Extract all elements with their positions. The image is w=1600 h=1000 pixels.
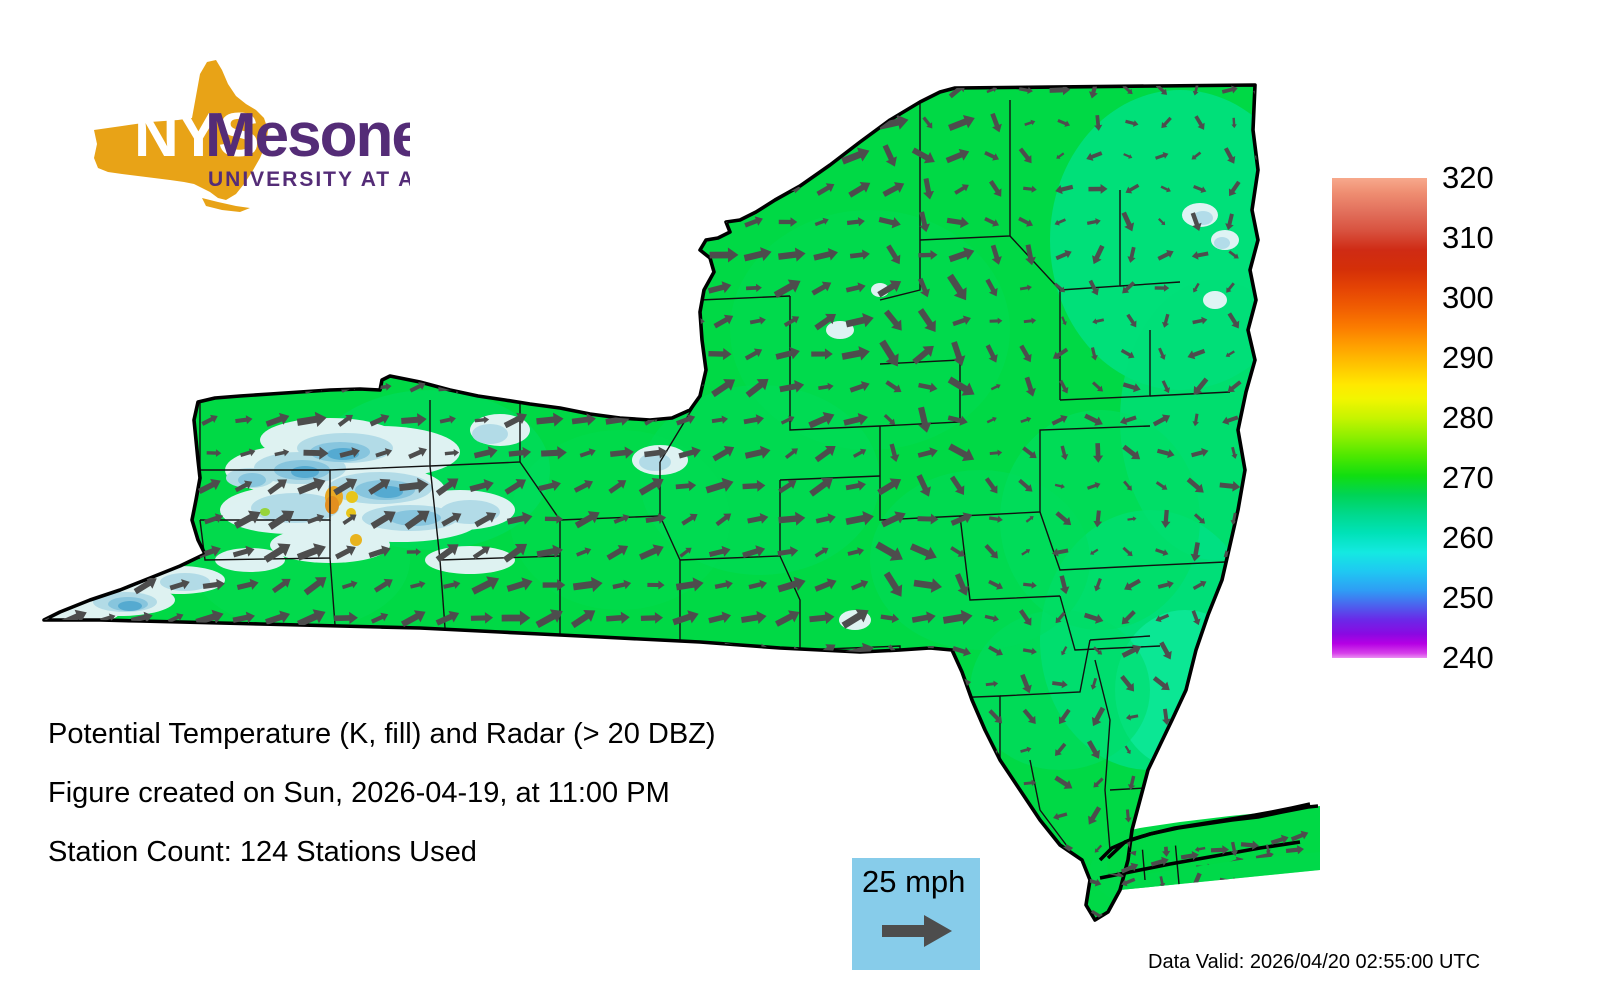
wind-arrow	[65, 545, 84, 559]
wind-arrow	[1054, 876, 1065, 888]
wind-arrow	[912, 806, 936, 825]
wind-arrow	[1189, 745, 1203, 756]
wind-arrow	[127, 275, 156, 302]
wind-arrow	[544, 181, 564, 197]
wind-arrow	[1228, 712, 1239, 722]
wind-arrow	[28, 241, 59, 269]
wind-arrow	[63, 282, 84, 294]
wind-arrow	[572, 244, 604, 267]
wind-arrow	[987, 841, 1005, 856]
wind-arrow	[231, 345, 257, 363]
wind-arrow	[538, 110, 571, 136]
wind-arrow	[669, 77, 703, 104]
wind-arrow	[339, 249, 361, 261]
wind-arrow	[370, 309, 399, 334]
weather-map-figure: NYS Mesonet UNIVERSITY AT ALBANY 320 310…	[0, 0, 1600, 1000]
wind-arrow	[1263, 378, 1274, 396]
wind-arrow	[97, 643, 126, 660]
wind-arrow	[94, 673, 123, 696]
wind-arrow	[742, 677, 766, 692]
wind-arrow	[332, 676, 360, 691]
wind-arrow	[35, 907, 54, 922]
wind-arrow	[33, 644, 55, 658]
wind-arrow	[605, 212, 632, 232]
wind-arrow	[439, 903, 466, 926]
wind-arrow	[780, 808, 797, 824]
colorbar-tick-310: 310	[1442, 222, 1494, 253]
wind-arrow	[98, 511, 127, 526]
wind-arrow	[574, 905, 602, 925]
wind-arrow	[739, 80, 769, 101]
wind-arrow	[509, 645, 531, 657]
wind-arrow	[1221, 675, 1239, 694]
wind-arrow	[1024, 910, 1035, 920]
wind-arrow	[131, 675, 153, 693]
wind-arrow	[712, 85, 728, 95]
wind-arrow	[1257, 181, 1279, 197]
wind-arrow	[638, 149, 665, 164]
wind-arrow	[1258, 246, 1278, 265]
wind-arrow	[575, 215, 592, 229]
wind-arrow	[676, 282, 697, 293]
wind-arrow	[608, 375, 636, 399]
wind-arrow	[879, 84, 901, 96]
wind-arrow	[1158, 907, 1173, 923]
wind-arrow	[781, 711, 802, 722]
wind-arrow	[610, 314, 635, 328]
wind-arrow	[1229, 648, 1240, 655]
wind-arrow	[32, 215, 49, 229]
wind-arrow	[675, 148, 696, 163]
wind-arrow	[502, 343, 529, 366]
wind-arrow	[504, 175, 536, 203]
wind-arrow	[1254, 216, 1273, 228]
wind-arrow	[643, 313, 670, 330]
wind-arrow	[816, 116, 835, 129]
wind-arrow	[206, 381, 222, 392]
wind-arrow	[164, 544, 188, 560]
wind-arrow	[471, 111, 501, 134]
wind-arrow	[919, 707, 936, 726]
wind-arrow	[1260, 447, 1276, 460]
wind-arrow	[335, 280, 357, 296]
wind-arrow	[438, 248, 466, 263]
wind-arrow	[644, 84, 661, 95]
wind-arrow	[674, 175, 706, 204]
wind-arrow	[543, 906, 566, 924]
wind-arrow	[636, 344, 667, 363]
wind-arrow	[913, 671, 935, 698]
wind-arrow	[783, 775, 801, 791]
wind-arrow	[469, 243, 502, 267]
wind-arrow	[273, 250, 291, 259]
wind-arrow	[25, 541, 55, 563]
wind-arrow	[303, 246, 329, 263]
wind-arrow	[1257, 906, 1279, 923]
wind-arrow	[746, 116, 770, 129]
wind-key-label: 25 mph	[862, 864, 965, 900]
caption-created: Figure created on Sun, 2026-04-19, at 11…	[48, 777, 716, 810]
wind-arrow	[1020, 877, 1032, 886]
wind-arrow	[738, 144, 770, 167]
wind-arrow	[1191, 705, 1209, 728]
wind-arrow	[233, 674, 256, 694]
wind-arrow	[137, 381, 155, 394]
wind-arrow	[576, 348, 592, 360]
wind-arrow	[880, 737, 899, 763]
wind-arrow	[815, 812, 829, 819]
wind-arrow	[948, 768, 976, 798]
wind-arrow	[32, 311, 56, 332]
wind-arrow	[610, 909, 633, 922]
wind-arrow	[264, 346, 292, 361]
wind-arrow	[809, 743, 836, 757]
wind-arrow	[31, 742, 50, 758]
wind-arrow	[544, 314, 565, 329]
wind-arrow	[341, 909, 360, 921]
colorbar-tick-290: 290	[1442, 342, 1494, 373]
wind-arrow	[202, 678, 219, 689]
wind-arrow	[474, 284, 490, 293]
wind-arrow	[1224, 909, 1245, 921]
wind-arrow	[1263, 646, 1274, 655]
wind-arrow	[508, 282, 524, 293]
wind-arrow	[471, 906, 502, 924]
wind-arrow	[474, 86, 490, 95]
wind-arrow	[850, 118, 871, 129]
wind-speed-key: 25 mph	[852, 858, 980, 970]
wind-arrow	[607, 282, 629, 294]
wind-arrow	[545, 380, 563, 394]
wind-arrow	[1222, 612, 1237, 623]
wind-arrow	[239, 249, 256, 260]
colorbar-tick-280: 280	[1442, 402, 1494, 433]
wind-arrow	[607, 111, 637, 136]
wind-arrow	[234, 312, 263, 330]
wind-arrow	[777, 907, 806, 923]
wind-arrow	[771, 141, 804, 171]
wind-arrow	[741, 741, 767, 760]
wind-arrow	[877, 806, 903, 826]
wind-arrow	[64, 308, 93, 333]
wind-arrow	[66, 378, 89, 397]
wind-arrow	[168, 413, 185, 427]
wind-arrow	[745, 840, 770, 857]
wind-arrow	[95, 343, 121, 365]
wind-arrow	[1253, 409, 1275, 431]
wind-arrow	[365, 344, 394, 364]
wind-arrow	[503, 83, 528, 98]
wind-arrow	[165, 444, 195, 461]
wind-arrow	[134, 905, 158, 925]
wind-arrow	[987, 776, 1005, 790]
wind-arrow	[815, 711, 837, 724]
wind-arrow	[195, 340, 225, 367]
wind-arrow	[1159, 774, 1173, 792]
wind-arrow	[273, 646, 291, 656]
wind-arrow	[130, 344, 155, 365]
wind-arrow	[647, 182, 664, 197]
wind-arrow	[1255, 613, 1273, 624]
wind-arrow	[809, 873, 836, 890]
wind-arrow	[337, 314, 363, 328]
wind-arrow	[409, 645, 426, 658]
wind-arrow	[643, 676, 661, 692]
wind-arrow	[709, 176, 739, 202]
wind-arrow	[370, 906, 397, 924]
wind-arrow	[844, 807, 868, 824]
wind-arrow	[507, 314, 532, 328]
wind-arrow	[301, 281, 323, 295]
wind-arrow	[807, 79, 836, 101]
wind-arrow	[848, 775, 872, 791]
wind-arrow	[100, 416, 116, 425]
wind-arrow	[170, 511, 190, 526]
wind-arrow	[844, 706, 876, 728]
wind-arrow	[1263, 779, 1274, 788]
wind-arrow	[536, 147, 565, 166]
wind-arrow	[102, 444, 123, 461]
wind-arrow	[745, 875, 763, 890]
wind-arrow	[580, 380, 596, 393]
wind-arrow	[951, 708, 972, 725]
wind-arrow	[302, 639, 329, 662]
wind-arrow	[302, 904, 329, 926]
wind-arrow	[1258, 746, 1270, 753]
wind-arrow	[609, 83, 628, 97]
wind-arrow	[434, 279, 462, 297]
wind-arrow	[572, 150, 596, 163]
wind-arrow	[645, 907, 666, 924]
wind-arrow	[743, 808, 764, 823]
colorbar-tick-270: 270	[1442, 462, 1494, 493]
colorbar-tick-240: 240	[1442, 642, 1494, 673]
wind-arrow	[201, 644, 226, 658]
wind-arrow	[135, 511, 157, 527]
wind-arrow	[882, 774, 906, 792]
wind-arrow	[433, 673, 462, 694]
wind-arrow	[502, 211, 530, 232]
wind-arrow	[261, 273, 294, 302]
wind-arrow	[68, 908, 89, 922]
wind-arrow	[815, 841, 836, 857]
wind-arrow	[808, 676, 837, 691]
logo-subtitle-text: UNIVERSITY AT ALBANY	[208, 168, 410, 191]
wind-arrow	[366, 675, 394, 693]
wind-arrow	[645, 117, 666, 129]
wind-arrow	[272, 312, 292, 330]
wind-arrow	[574, 675, 595, 693]
wind-arrow	[577, 314, 598, 328]
wind-arrow	[777, 83, 799, 97]
wind-arrow	[200, 310, 227, 331]
wind-arrow	[747, 906, 770, 925]
wind-arrow	[433, 147, 463, 164]
wind-arrow	[202, 245, 227, 266]
wind-arrow	[674, 113, 706, 133]
wind-arrow	[474, 380, 497, 393]
wind-arrow	[404, 245, 433, 265]
wind-arrow	[1263, 514, 1272, 524]
wind-arrow	[1261, 316, 1275, 326]
wind-arrow	[575, 85, 592, 94]
wind-arrow	[1191, 909, 1209, 921]
wind-arrow	[509, 117, 531, 129]
wind-arrow	[134, 248, 159, 263]
wind-arrow	[683, 251, 697, 259]
wind-arrow	[545, 646, 563, 656]
wind-arrow	[340, 644, 360, 658]
wind-arrow	[1259, 115, 1278, 131]
colorbar-tick-260: 260	[1442, 522, 1494, 553]
wind-arrow	[466, 142, 499, 170]
wind-arrow	[541, 215, 560, 230]
wind-arrow	[678, 644, 701, 658]
wind-arrow	[472, 213, 491, 231]
caption-block: Potential Temperature (K, fill) and Rada…	[48, 718, 716, 895]
wind-arrow	[604, 673, 632, 694]
wind-arrow	[989, 912, 1002, 919]
wind-arrow	[955, 845, 970, 853]
wind-arrow	[32, 509, 56, 529]
wind-arrow	[918, 774, 937, 792]
wind-arrow	[817, 775, 836, 790]
wind-arrow	[1156, 810, 1168, 823]
wind-arrow	[407, 116, 428, 131]
wind-arrow	[672, 672, 699, 695]
colorbar-legend: 320 310 300 290 280 270 260 250 240	[1332, 178, 1582, 660]
wind-arrow	[745, 710, 771, 724]
wind-arrow	[609, 642, 636, 661]
wind-arrow	[29, 282, 52, 294]
wind-arrow	[947, 803, 970, 830]
wind-arrow	[229, 275, 260, 300]
wind-arrow	[404, 677, 423, 692]
wind-arrow	[541, 678, 559, 689]
wind-arrow	[773, 873, 804, 891]
wind-arrow	[711, 149, 730, 162]
wind-arrow	[542, 349, 557, 359]
wind-arrow	[510, 247, 530, 263]
colorbar-tick-300: 300	[1442, 282, 1494, 313]
wind-arrow	[1256, 678, 1271, 691]
wind-arrow	[127, 542, 158, 561]
wind-arrow	[195, 274, 225, 301]
wind-arrow	[707, 677, 733, 690]
wind-arrow	[473, 642, 499, 661]
wind-arrow	[96, 477, 121, 495]
wind-arrow	[61, 674, 87, 693]
wind-arrow	[915, 83, 933, 97]
wind-arrow	[535, 79, 565, 101]
wind-arrow	[68, 644, 88, 657]
wind-arrow	[637, 210, 666, 233]
wind-arrow	[1254, 276, 1273, 299]
wind-arrow	[883, 709, 905, 726]
wind-arrow	[1253, 542, 1275, 562]
wind-arrow	[409, 316, 426, 325]
wind-arrow	[399, 342, 429, 367]
wind-arrow	[403, 902, 433, 927]
wind-arrow	[878, 676, 901, 692]
wind-arrow	[266, 902, 298, 928]
wind-arrow	[29, 677, 51, 690]
wind-arrow	[239, 646, 257, 657]
wind-arrow	[1221, 741, 1238, 759]
wind-arrow	[715, 777, 733, 789]
colorbar-gradient	[1332, 178, 1427, 658]
wind-arrow	[297, 343, 328, 365]
wind-arrow	[609, 179, 636, 199]
wind-arrow	[578, 182, 597, 196]
wind-arrow	[1256, 481, 1273, 492]
wind-arrow	[31, 82, 49, 98]
wind-arrow	[983, 872, 1002, 892]
wind-arrow	[1018, 811, 1034, 822]
wind-arrow	[65, 244, 91, 266]
wind-arrow	[983, 806, 1002, 825]
wind-arrow	[436, 178, 468, 199]
wind-arrow	[1060, 910, 1068, 920]
wind-arrow	[66, 575, 90, 596]
wind-arrow	[26, 343, 53, 365]
wind-arrow	[99, 906, 125, 925]
wind-arrow	[569, 276, 598, 299]
wind-arrow	[776, 836, 809, 863]
wind-arrow	[170, 247, 190, 264]
wind-arrow	[66, 479, 82, 492]
wind-arrow	[1190, 776, 1210, 790]
wind-arrow	[951, 741, 965, 759]
wind-arrow	[234, 903, 261, 927]
wind-arrow	[641, 241, 671, 268]
wind-arrow	[1255, 348, 1272, 360]
wind-arrow	[639, 280, 665, 297]
wind-arrow	[265, 672, 292, 696]
wind-arrow	[672, 215, 699, 230]
wind-arrow	[96, 545, 120, 558]
wind-arrow	[303, 677, 321, 691]
wind-arrow	[677, 906, 704, 924]
wind-arrow	[97, 278, 119, 298]
wind-arrow	[541, 247, 566, 263]
caption-station-count: Station Count: 124 Stations Used	[48, 836, 716, 869]
wind-arrow	[473, 178, 499, 201]
wind-arrow	[36, 579, 53, 590]
wind-arrow	[135, 313, 157, 328]
wind-arrow	[200, 903, 229, 927]
wind-arrow	[103, 247, 120, 262]
wind-arrow	[67, 442, 90, 463]
wind-arrow	[166, 312, 195, 329]
wind-arrow	[743, 772, 772, 794]
wind-arrow	[165, 344, 187, 364]
wind-arrow	[432, 211, 464, 233]
wind-arrow	[472, 311, 501, 331]
wind-arrow	[165, 374, 195, 400]
right-arrow-icon	[882, 914, 954, 953]
wind-arrow	[845, 675, 867, 692]
wind-arrow	[911, 740, 937, 759]
wind-arrow	[848, 745, 864, 756]
wind-arrow	[435, 345, 461, 364]
wind-arrow	[778, 677, 799, 691]
wind-arrow	[138, 647, 154, 656]
wind-arrow	[506, 379, 534, 394]
wind-arrow	[503, 148, 528, 164]
wind-arrow	[603, 145, 632, 167]
wind-arrow	[743, 179, 773, 199]
